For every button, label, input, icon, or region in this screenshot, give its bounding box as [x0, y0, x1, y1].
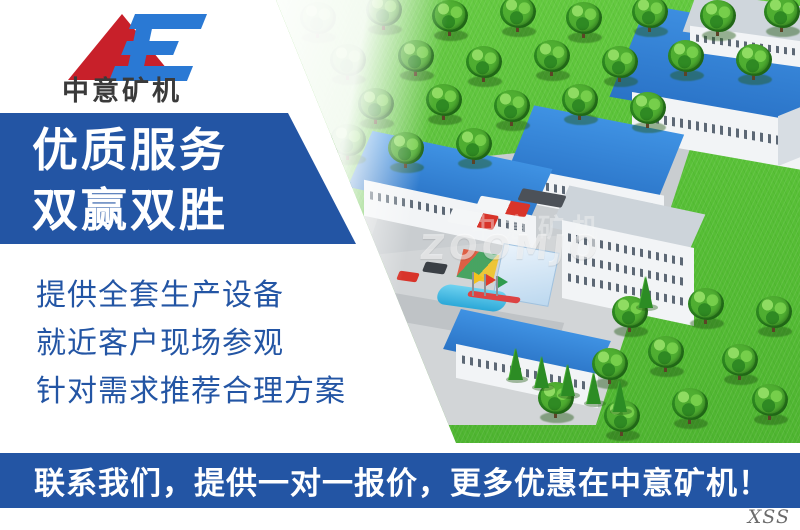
headline-line-1: 优质服务: [32, 120, 332, 180]
feature-item-2: 就近客户现场参观: [36, 320, 436, 368]
feature-item-1: 提供全套生产设备: [36, 272, 436, 320]
blue-e-mid-bar: [121, 41, 179, 55]
logo-company-name: 中意矿机: [62, 78, 242, 105]
feature-list: 提供全套生产设备 就近客户现场参观 针对需求推荐合理方案: [36, 272, 436, 416]
flag-red: [486, 274, 496, 286]
blue-e-top-bar: [129, 14, 207, 29]
triangle-e-logo-icon: [54, 8, 214, 80]
company-logo: 中意矿机: [46, 8, 236, 112]
flag-yellow: [474, 272, 484, 284]
promotional-poster: 中意矿机 ZOOMJO 中意矿机 优质服务 双赢双胜 提供全套生产设备 就近客户…: [0, 0, 800, 530]
contact-banner-text: 联系我们，提供一对一报价，更多优惠在中意矿机！: [34, 458, 770, 503]
corner-watermark: XSS: [748, 506, 790, 528]
feature-item-3: 针对需求推荐合理方案: [36, 368, 436, 416]
headline: 优质服务 双赢双胜: [32, 120, 332, 240]
flag-green: [498, 276, 508, 288]
contact-banner[interactable]: 联系我们，提供一对一报价，更多优惠在中意矿机！: [0, 453, 800, 508]
headline-line-2: 双赢双胜: [32, 180, 332, 240]
